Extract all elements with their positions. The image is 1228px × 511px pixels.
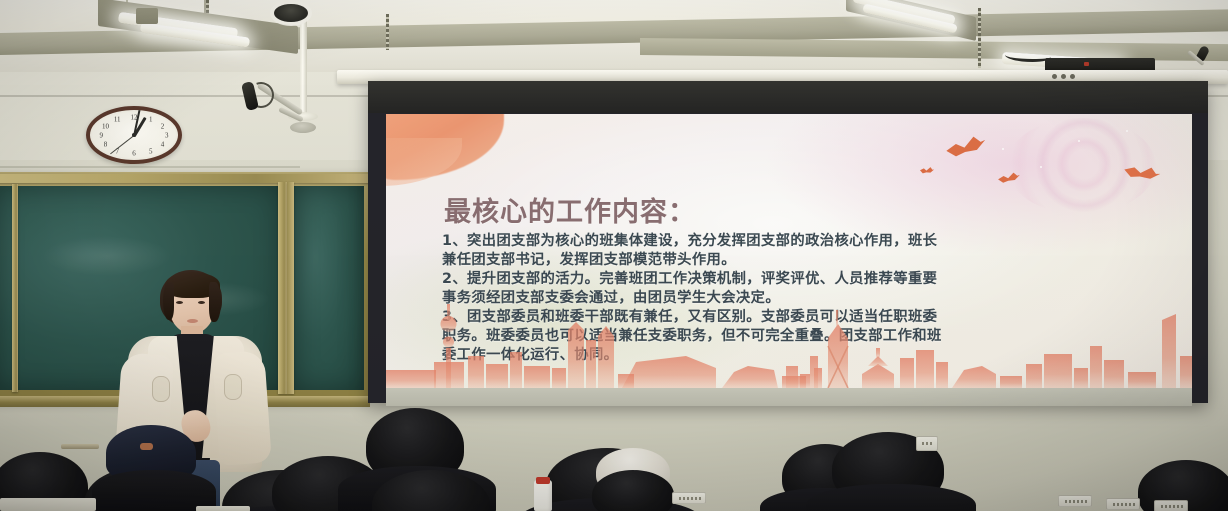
- desk-edge: [196, 506, 250, 511]
- clock-numeral: 5: [149, 149, 153, 156]
- blackboard-rail-center-2: [287, 182, 294, 394]
- wall-socket[interactable]: [1106, 498, 1140, 510]
- chalk-stick: [61, 444, 99, 449]
- light-fixture-end-left: [136, 8, 158, 24]
- clock-numeral: 8: [104, 142, 108, 149]
- clock-numeral: 9: [99, 132, 103, 139]
- clock-center-pin: [132, 133, 136, 137]
- clock-numeral: 11: [114, 116, 121, 123]
- ceiling-pipe: [300, 16, 307, 116]
- blackboard-rail-left: [12, 184, 18, 392]
- screen-button-stop[interactable]: [1061, 74, 1066, 79]
- slide-title: 最核心的工作内容：: [444, 190, 696, 229]
- slide-line: 兼任团支部书记，发挥团支部模范带头作用。: [442, 251, 1172, 270]
- clock-numeral: 3: [165, 132, 169, 139]
- camera-arm-mount: [290, 122, 316, 133]
- water-bottle: [534, 480, 552, 511]
- projector-power-led: [1084, 62, 1089, 66]
- sparkle-dot: [1002, 148, 1004, 150]
- ribbon-graphic-secondary: [386, 138, 462, 186]
- ceiling-speaker: [274, 4, 308, 22]
- presentation-slide: 最核心的工作内容： 1、突出团支部为核心的班集体建设，充分发挥团支部的政治核心作…: [386, 114, 1192, 388]
- presenter-jacket-pocket-right: [224, 374, 242, 400]
- blackboard-rail-top: [0, 174, 370, 183]
- ceiling-chain-3: [978, 8, 981, 68]
- wall-socket[interactable]: [916, 436, 938, 451]
- wall-socket[interactable]: [1154, 500, 1188, 511]
- clock-face: 12 1 2 3 4 5 6 7 8 9 10 11: [92, 112, 176, 158]
- clock-second-hand: [110, 135, 134, 154]
- clock-numeral: 10: [102, 123, 109, 130]
- dove-icon: [920, 165, 935, 175]
- screen-top-band: [368, 81, 1208, 113]
- student-head: [592, 470, 674, 511]
- classroom-photo: 12 1 2 3 4 5 6 7 8 9 10 11: [0, 0, 1228, 511]
- slide-bottom-strip: [386, 388, 1192, 406]
- screen-button-down[interactable]: [1070, 74, 1075, 79]
- student-shoulders: [92, 470, 216, 511]
- projector-screen: 最核心的工作内容： 1、突出团支部为核心的班集体建设，充分发挥团支部的政治核心作…: [368, 81, 1208, 403]
- sparkle-dot: [1126, 130, 1128, 132]
- light-swirl-graphic: [1006, 118, 1156, 214]
- presenter-arm-right: [212, 350, 272, 465]
- city-skyline-graphic: [386, 296, 1192, 388]
- dove-icon: [945, 133, 988, 160]
- presenter-eye-left: [176, 301, 183, 304]
- sparkle-dot: [1078, 140, 1080, 142]
- wall-socket[interactable]: [672, 492, 706, 504]
- desk-edge: [0, 498, 96, 511]
- clock-numeral: 2: [161, 123, 165, 130]
- slide-line: 2、提升团支部的活力。完善班团工作决策机制，评奖评优、人员推荐等重要: [442, 270, 1172, 289]
- presenter-jacket-pocket-left: [152, 376, 170, 402]
- wall-socket[interactable]: [1058, 495, 1092, 507]
- ceiling-chain-2: [386, 14, 389, 50]
- cap-badge: [140, 443, 153, 450]
- clock-numeral: 4: [161, 142, 165, 149]
- screen-control-buttons[interactable]: [1052, 74, 1098, 79]
- wall-clock: 12 1 2 3 4 5 6 7 8 9 10 11: [86, 106, 182, 164]
- presenter-mouth: [187, 319, 198, 323]
- screen-button-up[interactable]: [1052, 74, 1057, 79]
- water-bottle-cap: [536, 477, 550, 484]
- presenter-eye-right: [198, 301, 205, 304]
- clock-numeral: 6: [132, 151, 136, 158]
- clock-numeral: 1: [149, 116, 153, 123]
- presenter-hair-right: [209, 282, 221, 322]
- blackboard-panel-right: [294, 186, 364, 390]
- presenter-hair-left: [163, 282, 174, 320]
- slide-line: 1、突出团支部为核心的班集体建设，充分发挥团支部的政治核心作用，班长: [442, 232, 1172, 251]
- wall-seam-left: [0, 166, 300, 168]
- sparkle-dot: [1040, 166, 1042, 168]
